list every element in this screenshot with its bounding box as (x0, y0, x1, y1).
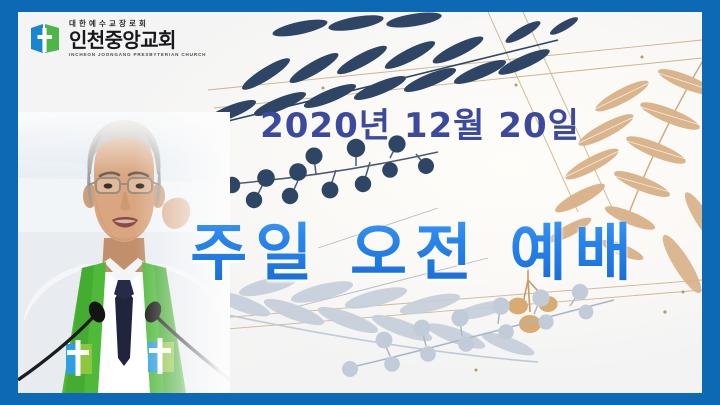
stole-cross-emblem-left (66, 340, 92, 376)
date-line: 2020년 12월 20일 (18, 98, 702, 147)
slide-card: 2020년 12월 20일 주일 오전 예배 대한예수교장로회 인천중앙교회 I… (18, 12, 702, 393)
logo-kicker: 대한예수교장로회 (69, 20, 206, 28)
worship-slide: 2020년 12월 20일 주일 오전 예배 대한예수교장로회 인천중앙교회 I… (0, 0, 720, 405)
church-logo: 대한예수교장로회 인천중앙교회 INCHEON JOONGANG PRESBYT… (28, 20, 206, 57)
service-title: 주일 오전 예배 (190, 202, 639, 292)
logo-church-name: 인천중앙교회 (69, 30, 206, 50)
logo-text-block: 대한예수교장로회 인천중앙교회 INCHEON JOONGANG PRESBYT… (69, 20, 206, 57)
open-book-cross-logo-icon (28, 22, 62, 56)
title-line: 주일 오전 예배 (18, 202, 702, 292)
stole-cross-emblem-right (148, 338, 174, 374)
service-date: 2020년 12월 20일 (260, 98, 580, 147)
logo-english-name: INCHEON JOONGANG PRESBYTERIAN CHURCH (69, 53, 206, 58)
